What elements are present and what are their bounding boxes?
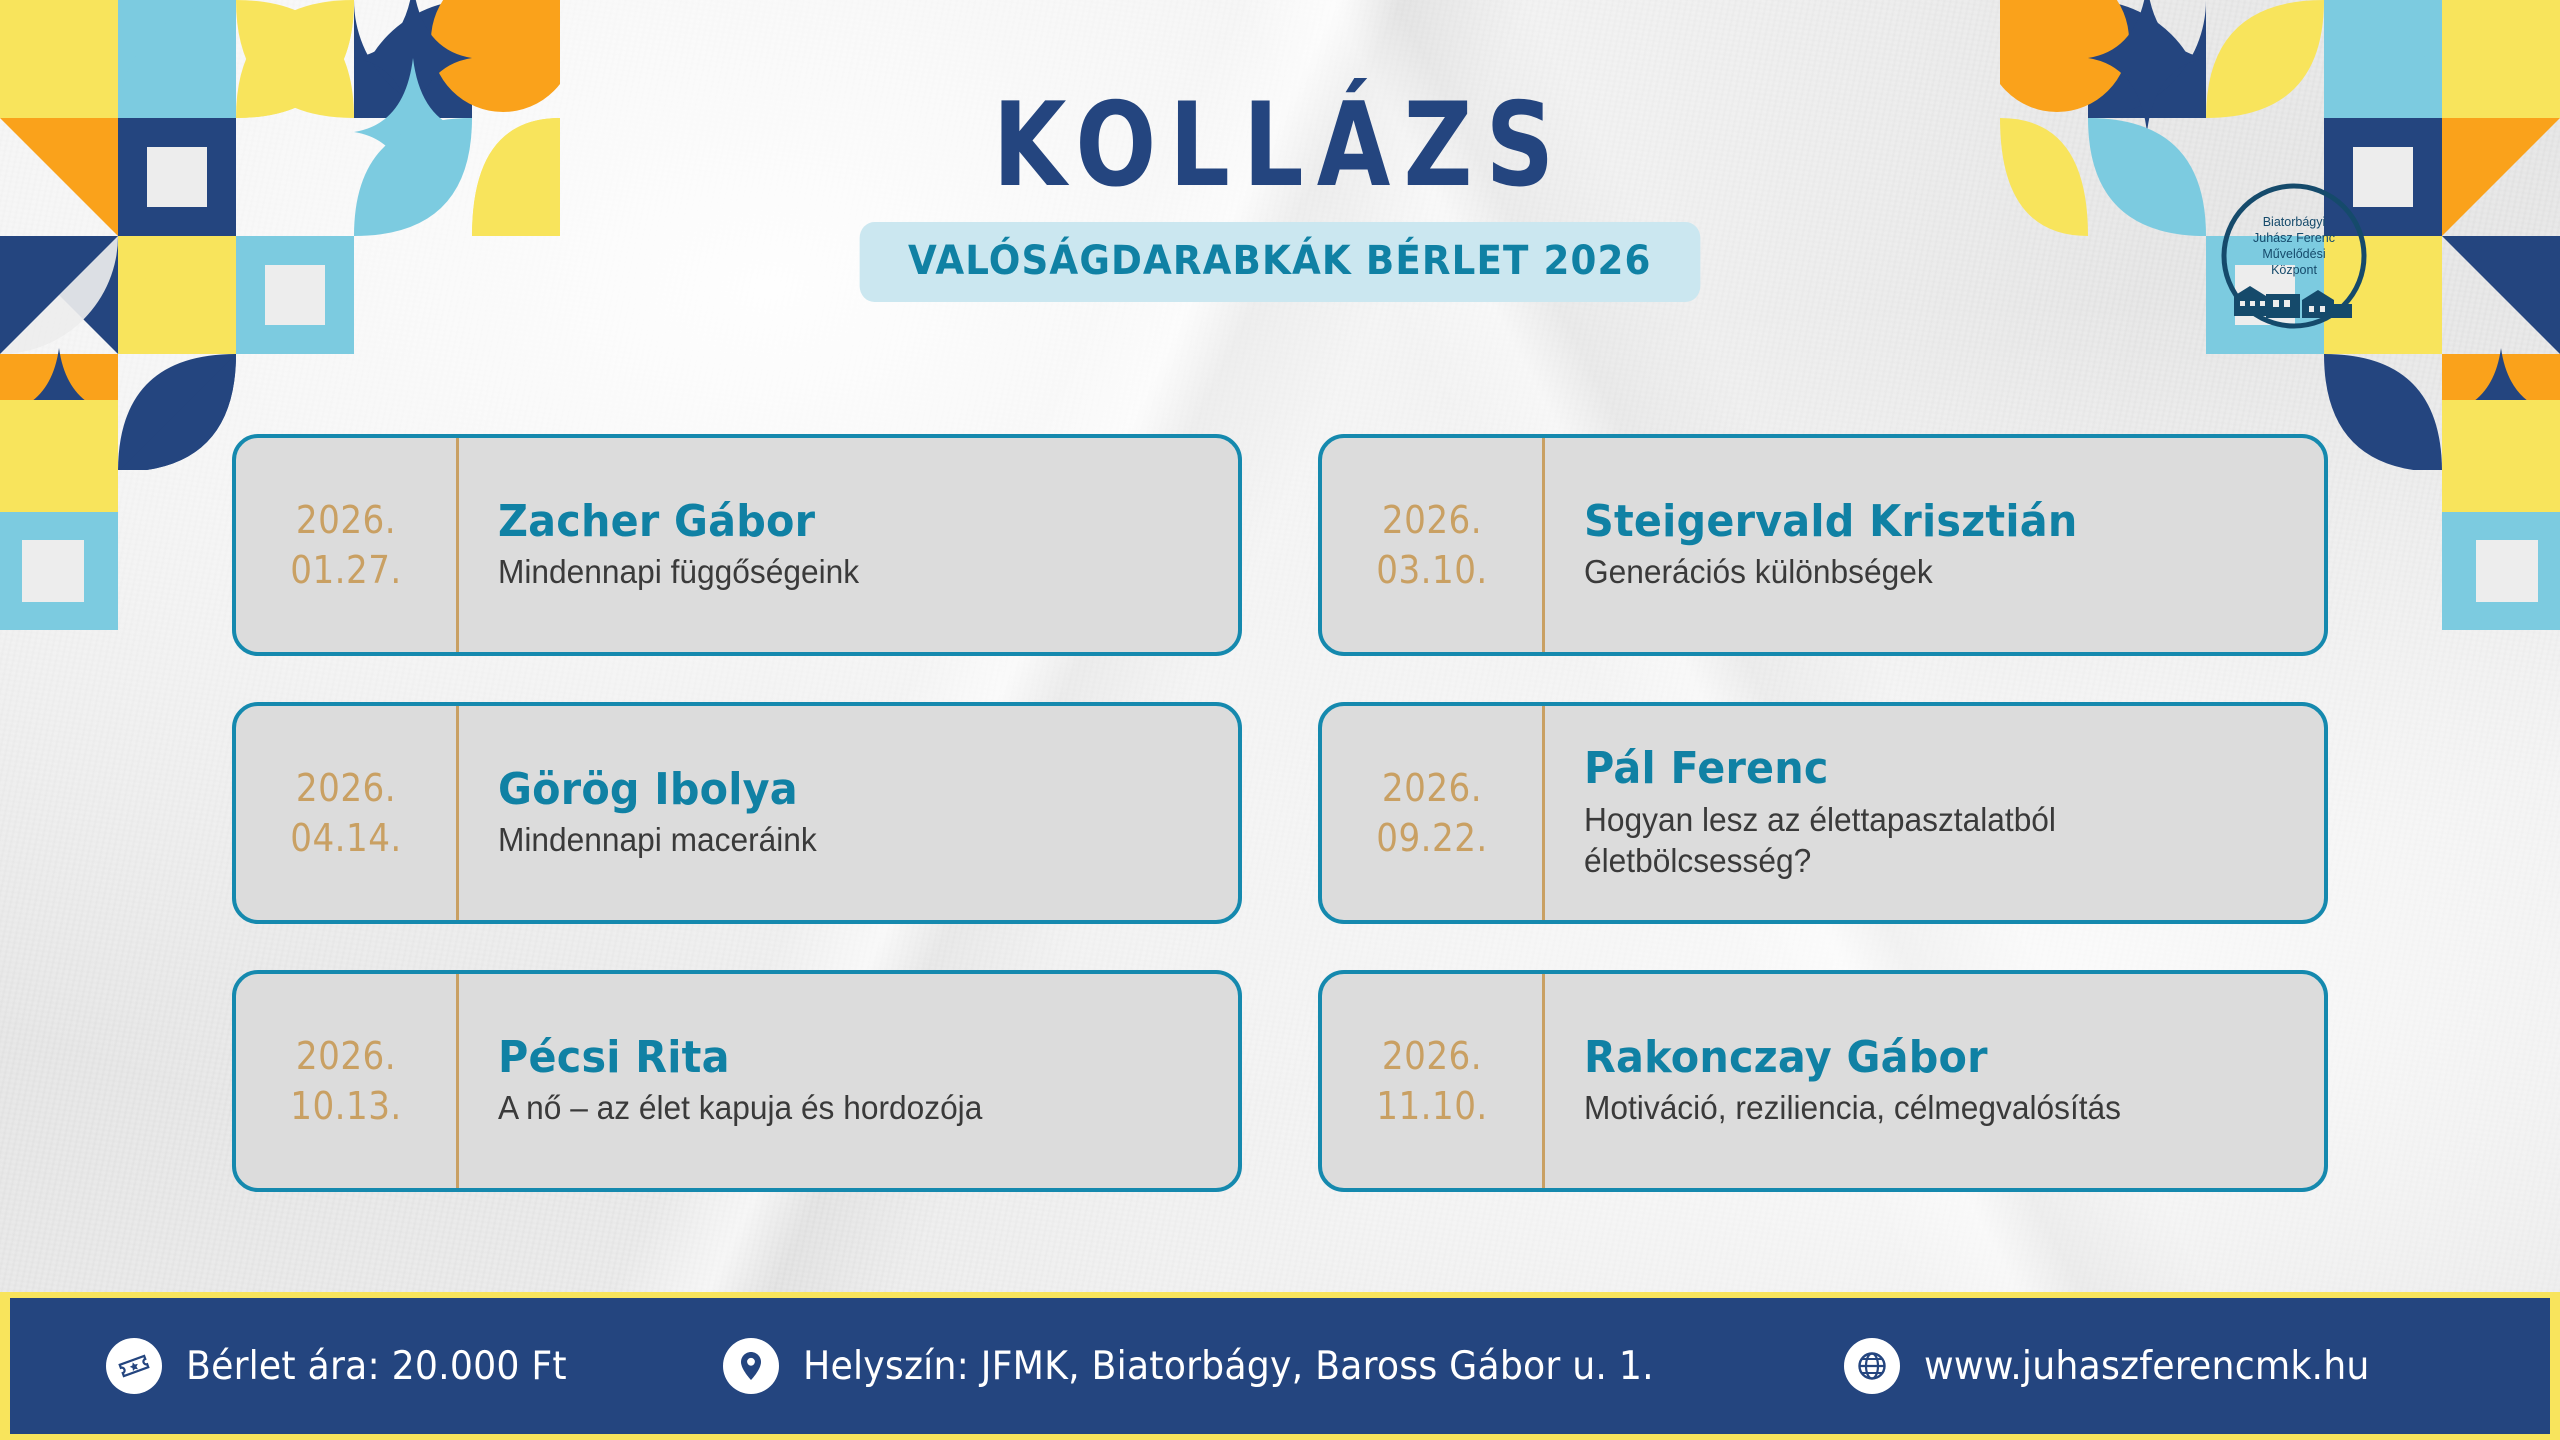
event-body: Zacher Gábor Mindennapi függőségeink — [456, 497, 1238, 594]
event-speaker-name: Rakonczay Gábor — [1584, 1033, 2257, 1084]
logo-line-3: Művelődési — [2262, 247, 2325, 261]
event-date-year: 2026. — [247, 1031, 445, 1081]
card-divider — [1542, 438, 1545, 652]
organization-logo: Biatorbágyi Juhász Ferenc Művelődési Köz… — [2216, 178, 2372, 334]
event-speaker-name: Pécsi Rita — [498, 1033, 1171, 1084]
decorative-pattern-left-lower — [0, 400, 240, 660]
event-date-day: 09.22. — [1333, 813, 1531, 863]
logo-line-2: Juhász Ferenc — [2253, 231, 2335, 245]
event-date-day: 04.14. — [247, 813, 445, 863]
event-speaker-name: Görög Ibolya — [498, 765, 1171, 816]
event-date-day: 10.13. — [247, 1081, 445, 1131]
footer-website-item[interactable]: www.juhaszferencmk.hu — [1844, 1338, 2403, 1394]
event-date: 2026. 10.13. — [247, 1031, 445, 1131]
event-card[interactable]: 2026. 10.13. Pécsi Rita A nő – az élet k… — [232, 970, 1242, 1192]
decorative-pattern-right-lower — [2320, 400, 2560, 660]
event-description: Mindennapi függőségeink — [498, 552, 1185, 593]
footer-price-text: Bérlet ára: 20.000 Ft — [186, 1344, 567, 1389]
footer-venue-item: Helyszín: JFMK, Biatorbágy, Baross Gábor… — [723, 1338, 1718, 1394]
card-divider — [456, 974, 459, 1188]
event-speaker-name: Steigervald Krisztián — [1584, 497, 2257, 548]
event-body: Pécsi Rita A nő – az élet kapuja és hord… — [456, 1033, 1238, 1130]
page-title: KOLLÁZS — [230, 88, 2329, 204]
event-date: 2026. 11.10. — [1333, 1031, 1531, 1131]
poster-subtitle-badge: VALÓSÁGDARABKÁK BÉRLET 2026 — [860, 222, 1700, 302]
footer-venue-text: Helyszín: JFMK, Biatorbágy, Baross Gábor… — [803, 1344, 1654, 1389]
event-body: Steigervald Krisztián Generációs különbs… — [1542, 497, 2324, 594]
event-description: Hogyan lesz az élettapasztalatból életbö… — [1584, 800, 2271, 882]
event-card[interactable]: 2026. 09.22. Pál Ferenc Hogyan lesz az é… — [1318, 702, 2328, 924]
event-card[interactable]: 2026. 01.27. Zacher Gábor Mindennapi füg… — [232, 434, 1242, 656]
event-date-year: 2026. — [247, 495, 445, 545]
footer-bar: Bérlet ára: 20.000 Ft Helyszín: JFMK, Bi… — [0, 1292, 2560, 1440]
event-date-year: 2026. — [1333, 763, 1531, 813]
logo-building-icon — [2234, 286, 2352, 318]
event-body: Rakonczay Gábor Motiváció, reziliencia, … — [1542, 1033, 2324, 1130]
events-grid: 2026. 01.27. Zacher Gábor Mindennapi füg… — [232, 434, 2328, 1192]
event-description: Generációs különbségek — [1584, 552, 2271, 593]
logo-line-1: Biatorbágyi — [2263, 215, 2326, 229]
event-card[interactable]: 2026. 03.10. Steigervald Krisztián Gener… — [1318, 434, 2328, 656]
event-body: Görög Ibolya Mindennapi maceráink — [456, 765, 1238, 862]
event-body: Pál Ferenc Hogyan lesz az élettapasztala… — [1542, 744, 2324, 881]
event-card[interactable]: 2026. 11.10. Rakonczay Gábor Motiváció, … — [1318, 970, 2328, 1192]
event-date-year: 2026. — [1333, 495, 1531, 545]
event-speaker-name: Pál Ferenc — [1584, 744, 2257, 795]
card-divider — [456, 438, 459, 652]
event-date-year: 2026. — [1333, 1031, 1531, 1081]
event-description: Motiváció, reziliencia, célmegvalósítás — [1584, 1088, 2271, 1129]
card-divider — [1542, 974, 1545, 1188]
event-date-day: 03.10. — [1333, 545, 1531, 595]
event-date: 2026. 03.10. — [1333, 495, 1531, 595]
card-divider — [456, 706, 459, 920]
globe-icon — [1844, 1338, 1900, 1394]
footer-price-item: Bérlet ára: 20.000 Ft — [106, 1338, 595, 1394]
event-card[interactable]: 2026. 04.14. Görög Ibolya Mindennapi mac… — [232, 702, 1242, 924]
event-date-day: 11.10. — [1333, 1081, 1531, 1131]
event-speaker-name: Zacher Gábor — [498, 497, 1171, 548]
event-description: A nő – az élet kapuja és hordozója — [498, 1088, 1185, 1129]
event-date: 2026. 04.14. — [247, 763, 445, 863]
footer-content: Bérlet ára: 20.000 Ft Helyszín: JFMK, Bi… — [10, 1298, 2550, 1434]
event-date-year: 2026. — [247, 763, 445, 813]
ticket-icon — [106, 1338, 162, 1394]
event-date-day: 01.27. — [247, 545, 445, 595]
event-date: 2026. 09.22. — [1333, 763, 1531, 863]
location-pin-icon — [723, 1338, 779, 1394]
footer-website-text[interactable]: www.juhaszferencmk.hu — [1924, 1344, 2370, 1389]
logo-line-4: Központ — [2271, 263, 2317, 277]
event-description: Mindennapi maceráink — [498, 820, 1185, 861]
event-date: 2026. 01.27. — [247, 495, 445, 595]
poster-header: KOLLÁZS VALÓSÁGDARABKÁK BÉRLET 2026 — [0, 0, 2560, 302]
card-divider — [1542, 706, 1545, 920]
